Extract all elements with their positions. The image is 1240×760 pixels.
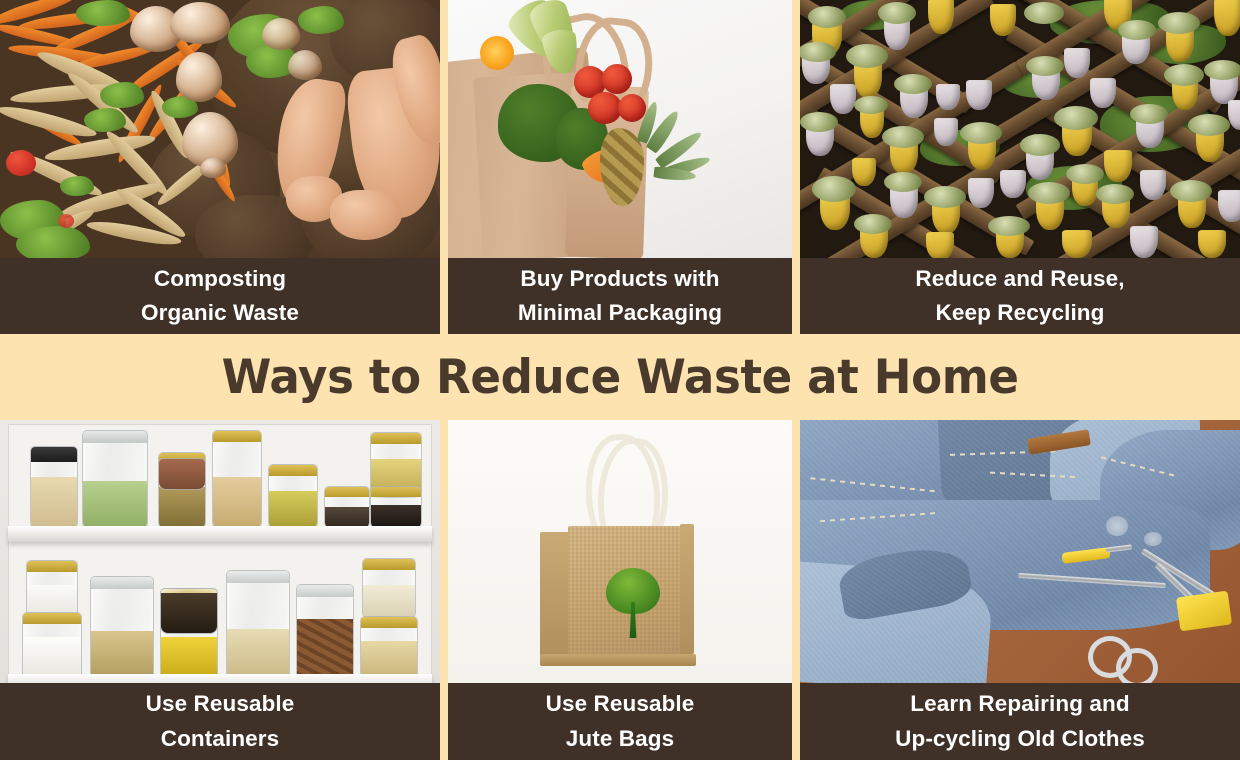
caption-line-1: Learn Repairing and: [910, 687, 1129, 721]
photo-jute-bags: [448, 420, 792, 683]
photo-minimal-packaging: [448, 0, 792, 258]
caption-line-2: Organic Waste: [141, 296, 299, 330]
card-reusable-containers[interactable]: Use Reusable Containers: [0, 420, 440, 760]
card-minimal-packaging[interactable]: Buy Products with Minimal Packaging: [448, 0, 792, 334]
caption-jute-bags: Use Reusable Jute Bags: [448, 683, 792, 760]
caption-line-2: Jute Bags: [566, 722, 674, 756]
caption-line-1: Use Reusable: [546, 687, 695, 721]
caption-composting: Composting Organic Waste: [0, 258, 440, 334]
caption-line-1: Buy Products with: [520, 262, 719, 296]
caption-reusable-containers: Use Reusable Containers: [0, 683, 440, 760]
photo-repair-upcycle: [800, 420, 1240, 683]
card-jute-bags[interactable]: Use Reusable Jute Bags: [448, 420, 792, 760]
card-row-top: Composting Organic Waste: [0, 0, 1240, 334]
card-repair-upcycle[interactable]: Learn Repairing and Up-cycling Old Cloth…: [800, 420, 1240, 760]
photo-reduce-reuse-recycle: [800, 0, 1240, 258]
column-gutter: [792, 420, 800, 760]
poster-title: Ways to Reduce Waste at Home: [222, 350, 1019, 405]
column-gutter: [440, 420, 448, 760]
column-gutter: [792, 0, 800, 334]
column-gutter: [440, 0, 448, 334]
infographic-poster: Composting Organic Waste: [0, 0, 1240, 760]
caption-line-2: Up-cycling Old Clothes: [895, 722, 1145, 756]
poster-title-band: Ways to Reduce Waste at Home: [0, 334, 1240, 420]
caption-line-1: Use Reusable: [146, 687, 295, 721]
caption-line-1: Composting: [154, 262, 286, 296]
caption-line-1: Reduce and Reuse,: [915, 262, 1124, 296]
photo-reusable-containers: [0, 420, 440, 683]
card-composting[interactable]: Composting Organic Waste: [0, 0, 440, 334]
caption-repair-upcycle: Learn Repairing and Up-cycling Old Cloth…: [800, 683, 1240, 760]
caption-reduce-reuse-recycle: Reduce and Reuse, Keep Recycling: [800, 258, 1240, 334]
caption-line-2: Keep Recycling: [936, 296, 1105, 330]
caption-minimal-packaging: Buy Products with Minimal Packaging: [448, 258, 792, 334]
card-reduce-reuse-recycle[interactable]: Reduce and Reuse, Keep Recycling: [800, 0, 1240, 334]
photo-composting: [0, 0, 440, 258]
card-row-bottom: Use Reusable Containers Use Reusable Jut…: [0, 420, 1240, 760]
caption-line-2: Containers: [161, 722, 280, 756]
caption-line-2: Minimal Packaging: [518, 296, 722, 330]
